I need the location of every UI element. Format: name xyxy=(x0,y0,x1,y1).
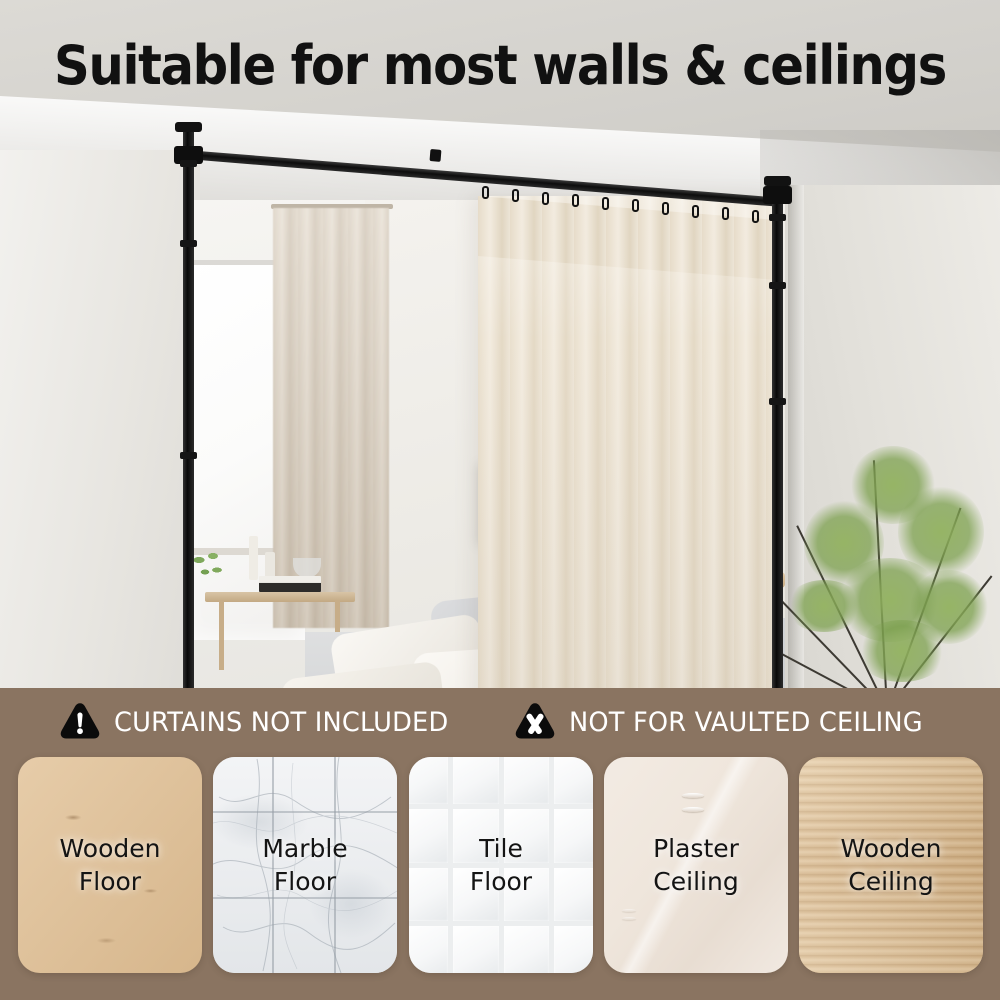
surface-compatibility-cards: Wooden Floor xyxy=(0,757,1000,973)
curtain-ring xyxy=(542,192,549,205)
surface-card-marble-floor: Marble Floor xyxy=(213,757,397,973)
post-collar xyxy=(769,282,786,289)
surface-card-line2: Floor xyxy=(274,866,336,897)
side-table-top xyxy=(205,592,355,602)
bedroom-beige-curtain xyxy=(273,208,389,628)
left-wall xyxy=(0,150,200,710)
surface-card-label: Marble Floor xyxy=(213,757,397,973)
curtain-ring xyxy=(722,207,729,220)
surface-card-line1: Wooden xyxy=(60,833,161,864)
tall-vase xyxy=(249,536,258,580)
warning-triangle-exclamation-icon xyxy=(58,700,102,744)
warning-triangle-cross-icon xyxy=(513,700,557,744)
rod-joint xyxy=(430,149,442,162)
badge-label: CURTAINS NOT INCLUDED xyxy=(114,707,448,738)
curtain-ring xyxy=(602,197,609,210)
curtain-ring xyxy=(662,202,669,215)
surface-card-label: Wooden Ceiling xyxy=(799,757,983,973)
surface-card-line2: Floor xyxy=(470,866,532,897)
surface-card-wooden-ceiling: Wooden Ceiling xyxy=(799,757,983,973)
left-post-ceiling-cap xyxy=(175,122,202,132)
small-plant xyxy=(191,548,225,598)
post-collar xyxy=(769,214,786,221)
surface-card-line1: Plaster xyxy=(653,833,739,864)
curtain-ring xyxy=(632,199,639,212)
curtain-ring xyxy=(692,205,699,218)
warning-badges: CURTAINS NOT INCLUDED NOT FOR VAULTED CE… xyxy=(0,700,1000,748)
post-collar xyxy=(769,398,786,405)
surface-card-line2: Ceiling xyxy=(848,866,933,897)
promo-image: Suitable for most walls & ceilings CURTA… xyxy=(0,0,1000,1000)
page-title: Suitable for most walls & ceilings xyxy=(40,34,960,97)
badge-label: NOT FOR VAULTED CEILING xyxy=(569,707,923,738)
surface-card-line1: Wooden xyxy=(841,833,942,864)
surface-card-line1: Tile xyxy=(479,833,523,864)
surface-card-line2: Ceiling xyxy=(653,866,738,897)
potted-branch-plant xyxy=(790,430,990,710)
surface-card-plaster-ceiling: Plaster Ceiling xyxy=(604,757,788,973)
surface-card-label: Tile Floor xyxy=(409,757,593,973)
curtain-ring xyxy=(752,210,759,223)
surface-card-label: Plaster Ceiling xyxy=(604,757,788,973)
curtain-ring xyxy=(482,186,489,199)
badge-not-for-vaulted-ceiling: NOT FOR VAULTED CEILING xyxy=(513,700,941,744)
surface-card-line2: Floor xyxy=(79,866,141,897)
surface-card-line1: Marble xyxy=(262,833,347,864)
right-vertical-post xyxy=(772,182,783,710)
plant-foliage xyxy=(856,620,948,682)
side-table-leg xyxy=(219,600,224,670)
post-collar xyxy=(180,240,197,247)
curtain-ring xyxy=(512,189,519,202)
curtain-ring xyxy=(572,194,579,207)
post-collar xyxy=(180,452,197,459)
post-collar xyxy=(180,160,197,167)
book-stack xyxy=(259,576,321,592)
surface-card-label: Wooden Floor xyxy=(18,757,202,973)
surface-card-tile-floor: Tile Floor xyxy=(409,757,593,973)
plant-foliage xyxy=(786,580,862,632)
badge-curtains-not-included: CURTAINS NOT INCLUDED xyxy=(58,700,466,744)
surface-card-wooden-floor: Wooden Floor xyxy=(18,757,202,973)
right-tee-connector xyxy=(763,186,792,204)
left-vertical-post xyxy=(183,128,194,708)
right-post-ceiling-cap xyxy=(764,176,791,186)
